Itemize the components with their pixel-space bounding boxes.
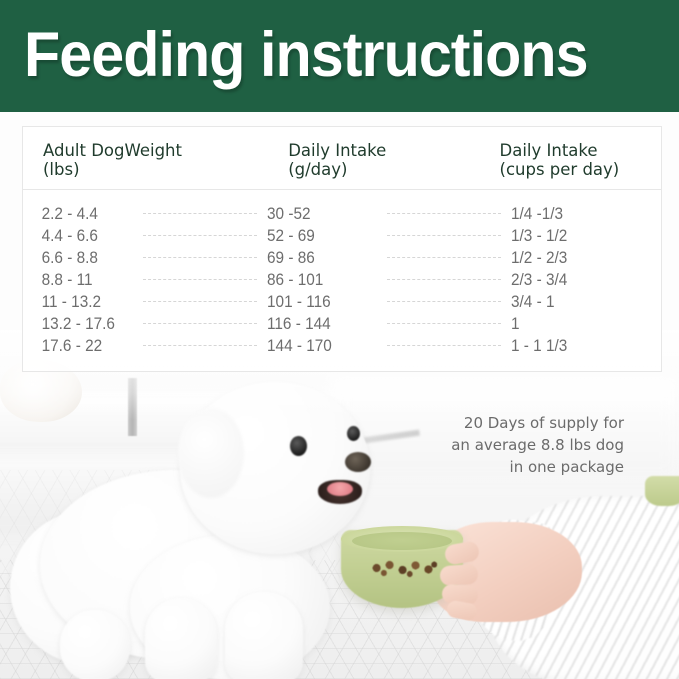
leader-dots	[387, 235, 501, 237]
cell-grams: 116 - 144	[267, 313, 369, 335]
cell-cups: 3/4 - 1	[511, 291, 651, 313]
column-header-weight-title: Adult DogWeight	[43, 141, 182, 160]
supply-note-line-2: an average 8.8 lbs dog	[364, 434, 624, 456]
cell-grams: 69 - 86	[267, 247, 369, 269]
cell-grams: 30 -52	[267, 203, 369, 225]
cell-grams: 86 - 101	[267, 269, 369, 291]
page-title: Feeding instructions	[24, 13, 588, 97]
supply-note: 20 Days of supply for an average 8.8 lbs…	[364, 412, 624, 478]
table-row: 6.6 - 8.8 69 - 86 1/2 - 2/3	[23, 247, 661, 269]
leader-dots	[387, 323, 501, 325]
table-row: 4.4 - 6.6 52 - 69 1/3 - 1/2	[23, 225, 661, 247]
cell-weight: 13.2 - 17.6	[23, 313, 125, 335]
column-header-grams: Daily Intake (g/day)	[288, 141, 499, 179]
feeding-table: Adult DogWeight (lbs) Daily Intake (g/da…	[22, 126, 662, 372]
cell-weight: 4.4 - 6.6	[23, 225, 125, 247]
leader-dots	[143, 279, 257, 281]
header-banner: Feeding instructions	[0, 0, 679, 112]
supply-note-line-3: in one package	[364, 456, 624, 478]
leader-dots	[387, 257, 501, 259]
cell-weight: 11 - 13.2	[23, 291, 125, 313]
column-header-cups: Daily Intake (cups per day)	[500, 141, 661, 179]
column-header-grams-unit: (g/day)	[288, 160, 499, 179]
leader-dots	[143, 301, 257, 303]
table-row: 8.8 - 11 86 - 101 2/3 - 3/4	[23, 269, 661, 291]
feeding-instructions-page: Feeding instructions Adult DogWeight (lb…	[0, 0, 679, 679]
table-row: 2.2 - 4.4 30 -52 1/4 -1/3	[23, 203, 661, 225]
table-row: 13.2 - 17.6 116 - 144 1	[23, 313, 661, 335]
table-header-row: Adult DogWeight (lbs) Daily Intake (g/da…	[23, 127, 661, 190]
cell-weight: 6.6 - 8.8	[23, 247, 125, 269]
hand-finger-middle	[439, 564, 478, 587]
column-header-weight-unit: (lbs)	[43, 160, 288, 179]
dog-front-leg-right	[225, 592, 303, 679]
dog-bowl-interior	[352, 532, 452, 550]
leader-dots	[387, 345, 501, 347]
cell-grams: 52 - 69	[267, 225, 369, 247]
leader-dots	[143, 235, 257, 237]
dog-eye-left	[290, 436, 307, 456]
column-header-cups-unit: (cups per day)	[500, 160, 661, 179]
cell-weight: 2.2 - 4.4	[23, 203, 125, 225]
column-header-cups-title: Daily Intake	[500, 141, 598, 160]
cell-cups: 2/3 - 3/4	[511, 269, 651, 291]
kibble-food	[368, 559, 440, 579]
cell-weight: 17.6 - 22	[23, 335, 125, 357]
cell-cups: 1/4 -1/3	[511, 203, 651, 225]
leader-dots	[143, 345, 257, 347]
leader-dots	[387, 279, 501, 281]
cell-weight: 8.8 - 11	[23, 269, 125, 291]
column-header-weight: Adult DogWeight (lbs)	[23, 141, 288, 179]
cell-cups: 1/3 - 1/2	[511, 225, 651, 247]
leader-dots	[143, 323, 257, 325]
leader-dots	[387, 301, 501, 303]
cell-cups: 1	[511, 313, 651, 335]
column-header-grams-title: Daily Intake	[288, 141, 386, 160]
leader-dots	[387, 213, 501, 215]
dog-ear	[178, 408, 244, 498]
supply-note-line-1: 20 Days of supply for	[364, 412, 624, 434]
cell-grams: 101 - 116	[267, 291, 369, 313]
dog-front-leg-left	[145, 598, 217, 679]
dog-back-leg	[60, 610, 130, 679]
leader-dots	[143, 257, 257, 259]
dog-eye-right	[347, 426, 360, 441]
cell-cups: 1/2 - 2/3	[511, 247, 651, 269]
table-row: 11 - 13.2 101 - 116 3/4 - 1	[23, 291, 661, 313]
leader-dots	[143, 213, 257, 215]
table-row: 17.6 - 22 144 - 170 1 - 1 1/3	[23, 335, 661, 357]
second-bowl	[645, 476, 679, 506]
dog-tongue	[327, 482, 353, 496]
cell-cups: 1 - 1 1/3	[511, 335, 651, 357]
table-body: 2.2 - 4.4 30 -52 1/4 -1/3 4.4 - 6.6 52 -…	[23, 190, 661, 371]
cell-grams: 144 - 170	[267, 335, 369, 357]
